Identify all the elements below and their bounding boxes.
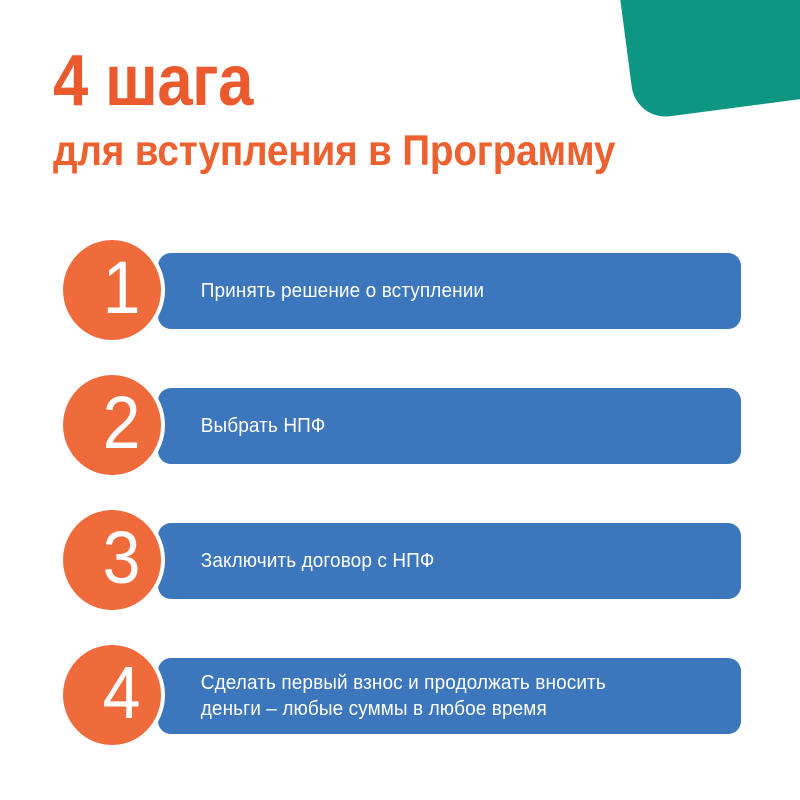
step-number: 4: [103, 656, 141, 730]
page-subtitle: для вступления в Программу: [53, 128, 683, 174]
step-bar: Сделать первый взнос и продолжать вносит…: [158, 658, 741, 734]
step-number-badge: 4: [63, 645, 161, 745]
step-label: Принять решение о вступлении: [158, 278, 507, 304]
step-number: 3: [103, 521, 141, 595]
step-label: Заключить договор с НПФ: [158, 548, 457, 574]
step-bar: Заключить договор с НПФ: [158, 523, 741, 599]
step-number: 1: [103, 251, 141, 325]
steps-list: Принять решение о вступлении 1 Выбрать Н…: [0, 240, 800, 745]
step-row: Принять решение о вступлении 1: [0, 240, 800, 340]
infographic-poster: 4 шага для вступления в Программу Принят…: [0, 0, 800, 800]
step-number: 2: [103, 386, 141, 460]
page-title: 4 шага: [53, 44, 669, 118]
step-number-badge: 1: [63, 240, 161, 340]
step-row: Выбрать НПФ 2: [0, 375, 800, 475]
step-label: Выбрать НПФ: [158, 413, 348, 439]
step-number-badge: 3: [63, 510, 161, 610]
step-bar: Принять решение о вступлении: [158, 253, 741, 329]
step-row: Заключить договор с НПФ 3: [0, 510, 800, 610]
step-label: Сделать первый взнос и продолжать вносит…: [158, 670, 629, 722]
header-block: 4 шага для вступления в Программу: [53, 44, 753, 174]
step-number-badge: 2: [63, 375, 161, 475]
step-bar: Выбрать НПФ: [158, 388, 741, 464]
step-row: Сделать первый взнос и продолжать вносит…: [0, 645, 800, 745]
